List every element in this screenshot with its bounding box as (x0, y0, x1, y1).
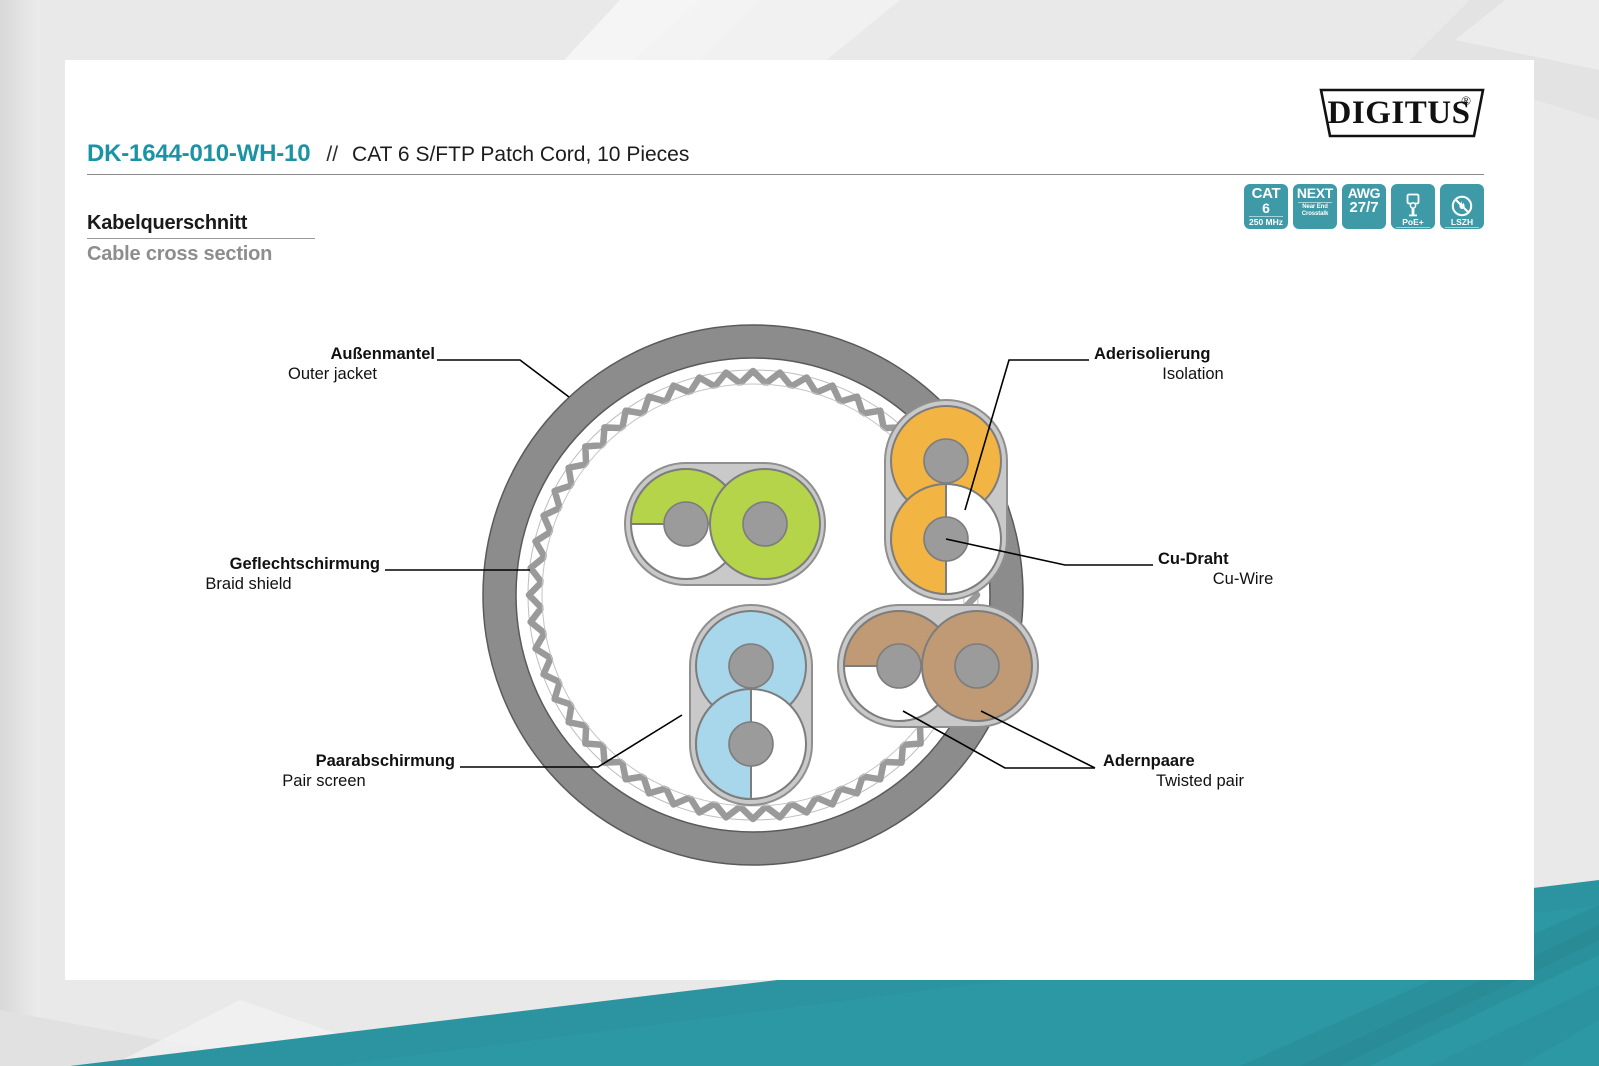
green-pair (625, 463, 825, 585)
callout-twisted-pair: Adernpaare Twisted pair (1103, 752, 1303, 791)
section-title-en: Cable cross section (87, 243, 315, 266)
badge-lszh: LSZH (1440, 184, 1484, 229)
product-description: CAT 6 S/FTP Patch Cord, 10 Pieces (352, 143, 689, 167)
badge-poe-foot: PoE+ (1391, 217, 1435, 227)
brown-pair (838, 605, 1038, 727)
badge-cat6: CAT 6 250 MHz (1244, 184, 1288, 229)
blue-wire-striped (696, 689, 806, 799)
callout-braid-shield-de: Geflechtschirmung (125, 555, 380, 574)
no-flame-glyph (1450, 194, 1474, 218)
badge-awg-sub: 27/7 (1349, 201, 1378, 215)
callout-outer-jacket-en: Outer jacket (240, 364, 435, 384)
callout-pair-screen: Paarabschirmung Pair screen (205, 752, 455, 791)
badge-poe: PoE+ (1391, 184, 1435, 229)
badge-next-main: NEXT (1297, 186, 1333, 201)
badge-next-line2: Crosstalk (1302, 211, 1328, 218)
section-divider (87, 238, 315, 239)
badge-awg: AWG 27/7 (1342, 184, 1386, 229)
leader-twisted-pair-b (981, 711, 1095, 768)
orange-conductor (924, 439, 968, 483)
title-separator: // (326, 143, 338, 167)
brown-wire-solid (922, 611, 1032, 721)
rj45-plug-glyph (1403, 193, 1423, 220)
section-heading: Kabelquerschnitt Cable cross section (87, 212, 315, 266)
product-title-row: DK-1644-010-WH-10 // CAT 6 S/FTP Patch C… (87, 140, 1482, 168)
callout-cu-wire-de: Cu-Draht (1158, 550, 1338, 569)
callout-twisted-pair-de: Adernpaare (1103, 752, 1303, 771)
green-wire-solid (710, 469, 820, 579)
section-title-de: Kabelquerschnitt (87, 212, 315, 235)
blue-pair (690, 605, 812, 805)
callout-isolation: Aderisolierung Isolation (1094, 345, 1324, 384)
callout-isolation-de: Aderisolierung (1094, 345, 1324, 364)
badge-cat6-foot: 250 MHz (1244, 217, 1288, 227)
feature-badges: CAT 6 250 MHz NEXT Near End Crosstalk AW… (1244, 184, 1484, 229)
green-conductor (743, 502, 787, 546)
blue-conductor (729, 644, 773, 688)
badge-divider (1298, 202, 1332, 203)
leader-outer-jacket (437, 360, 569, 397)
callout-cu-wire-en: Cu-Wire (1158, 569, 1338, 589)
product-sku: DK-1644-010-WH-10 (87, 140, 310, 168)
callout-cu-wire: Cu-Draht Cu-Wire (1158, 550, 1338, 589)
content-card: DIGITUS ® DK-1644-010-WH-10 // CAT 6 S/F… (65, 60, 1534, 980)
callout-outer-jacket-de: Außenmantel (240, 345, 435, 364)
callout-twisted-pair-en: Twisted pair (1103, 771, 1303, 791)
brown-conductor (877, 644, 921, 688)
slide-canvas: DIGITUS ® DK-1644-010-WH-10 // CAT 6 S/F… (0, 0, 1599, 1066)
registered-mark: ® (1461, 93, 1471, 109)
green-conductor (664, 502, 708, 546)
callout-pair-screen-en: Pair screen (205, 771, 455, 791)
callout-braid-shield: Geflechtschirmung Braid shield (125, 555, 380, 594)
blue-conductor (729, 722, 773, 766)
badge-divider (1445, 227, 1479, 228)
badge-divider (1396, 227, 1430, 228)
badge-next: NEXT Near End Crosstalk (1293, 184, 1337, 229)
badge-next-line1: Near End (1302, 204, 1328, 211)
callout-outer-jacket: Außenmantel Outer jacket (240, 345, 435, 384)
digitus-logo: DIGITUS ® (1318, 87, 1486, 139)
callout-isolation-en: Isolation (1094, 364, 1324, 384)
badge-lszh-foot: LSZH (1440, 217, 1484, 227)
badge-cat6-main: CAT (1252, 186, 1281, 201)
brown-conductor (955, 644, 999, 688)
badge-cat6-sub: 6 (1262, 201, 1270, 215)
title-divider (87, 174, 1484, 175)
callout-pair-screen-de: Paarabschirmung (205, 752, 455, 771)
callout-braid-shield-en: Braid shield (125, 574, 380, 594)
